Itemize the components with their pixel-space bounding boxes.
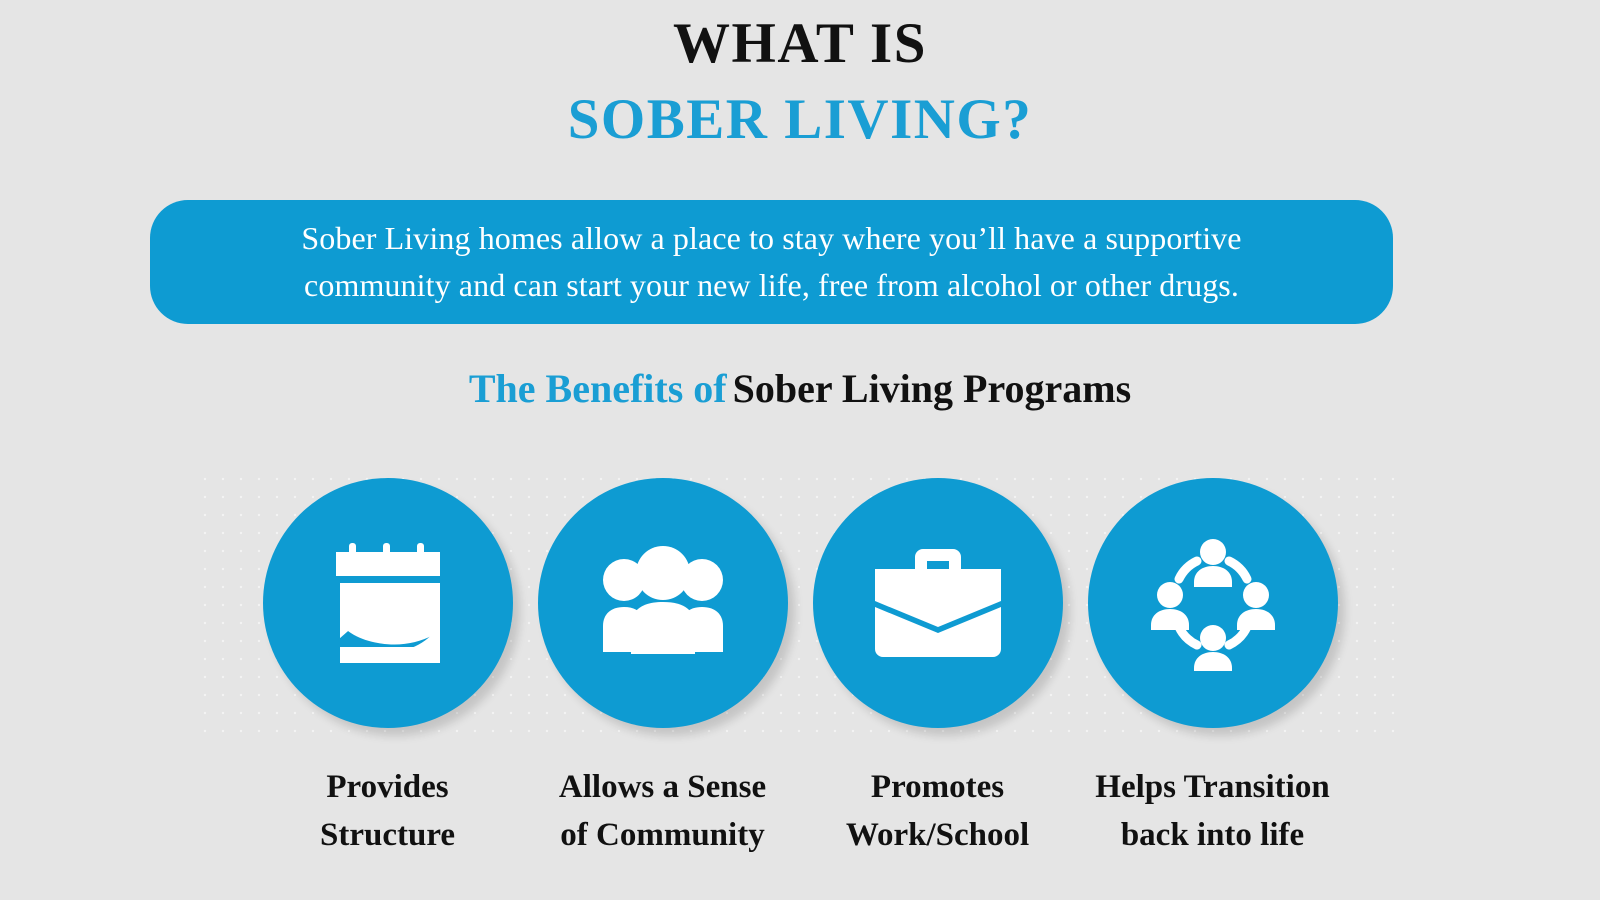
section-subtitle: The Benefits ofSober Living Programs: [0, 364, 1600, 414]
benefit-icon-circle: [813, 478, 1063, 728]
benefits-row: Provides Structure Allows a: [0, 478, 1600, 860]
benefit-item-transition: Helps Transition back into life: [1088, 478, 1338, 860]
benefit-item-structure: Provides Structure: [263, 478, 513, 860]
benefit-caption: Allows a Sense of Community: [559, 764, 766, 860]
page-title: WHAT IS SOBER LIVING?: [0, 8, 1600, 157]
description-banner: Sober Living homes allow a place to stay…: [150, 200, 1393, 324]
banner-text-line-1: Sober Living homes allow a place to stay…: [301, 215, 1241, 262]
subtitle-plain-text: Sober Living Programs: [733, 366, 1132, 411]
benefit-icon-circle: [1088, 478, 1338, 728]
benefit-caption-line-2: of Community: [559, 812, 766, 860]
benefit-caption-line-2: Work/School: [846, 812, 1029, 860]
people-group-icon: [595, 544, 731, 662]
benefit-caption-line-1: Provides: [320, 764, 455, 812]
benefit-item-community: Allows a Sense of Community: [538, 478, 788, 860]
benefit-caption-line-1: Promotes: [846, 764, 1029, 812]
benefit-caption-line-2: Structure: [320, 812, 455, 860]
benefit-icon-circle: [263, 478, 513, 728]
benefit-caption: Helps Transition back into life: [1095, 764, 1329, 860]
benefit-caption: Provides Structure: [320, 764, 455, 860]
calendar-icon: [326, 543, 450, 663]
title-line-sober-living: SOBER LIVING?: [0, 83, 1600, 157]
title-line-what-is: WHAT IS: [0, 8, 1600, 79]
benefit-caption-line-1: Allows a Sense: [559, 764, 766, 812]
briefcase-icon: [871, 545, 1005, 661]
benefit-caption: Promotes Work/School: [846, 764, 1029, 860]
subtitle-accent-text: The Benefits of: [469, 366, 727, 411]
benefit-item-work-school: Promotes Work/School: [813, 478, 1063, 860]
banner-text-line-2: community and can start your new life, f…: [304, 262, 1239, 309]
benefit-caption-line-2: back into life: [1095, 812, 1329, 860]
network-people-icon: [1145, 535, 1281, 671]
benefit-caption-line-1: Helps Transition: [1095, 764, 1329, 812]
benefit-icon-circle: [538, 478, 788, 728]
